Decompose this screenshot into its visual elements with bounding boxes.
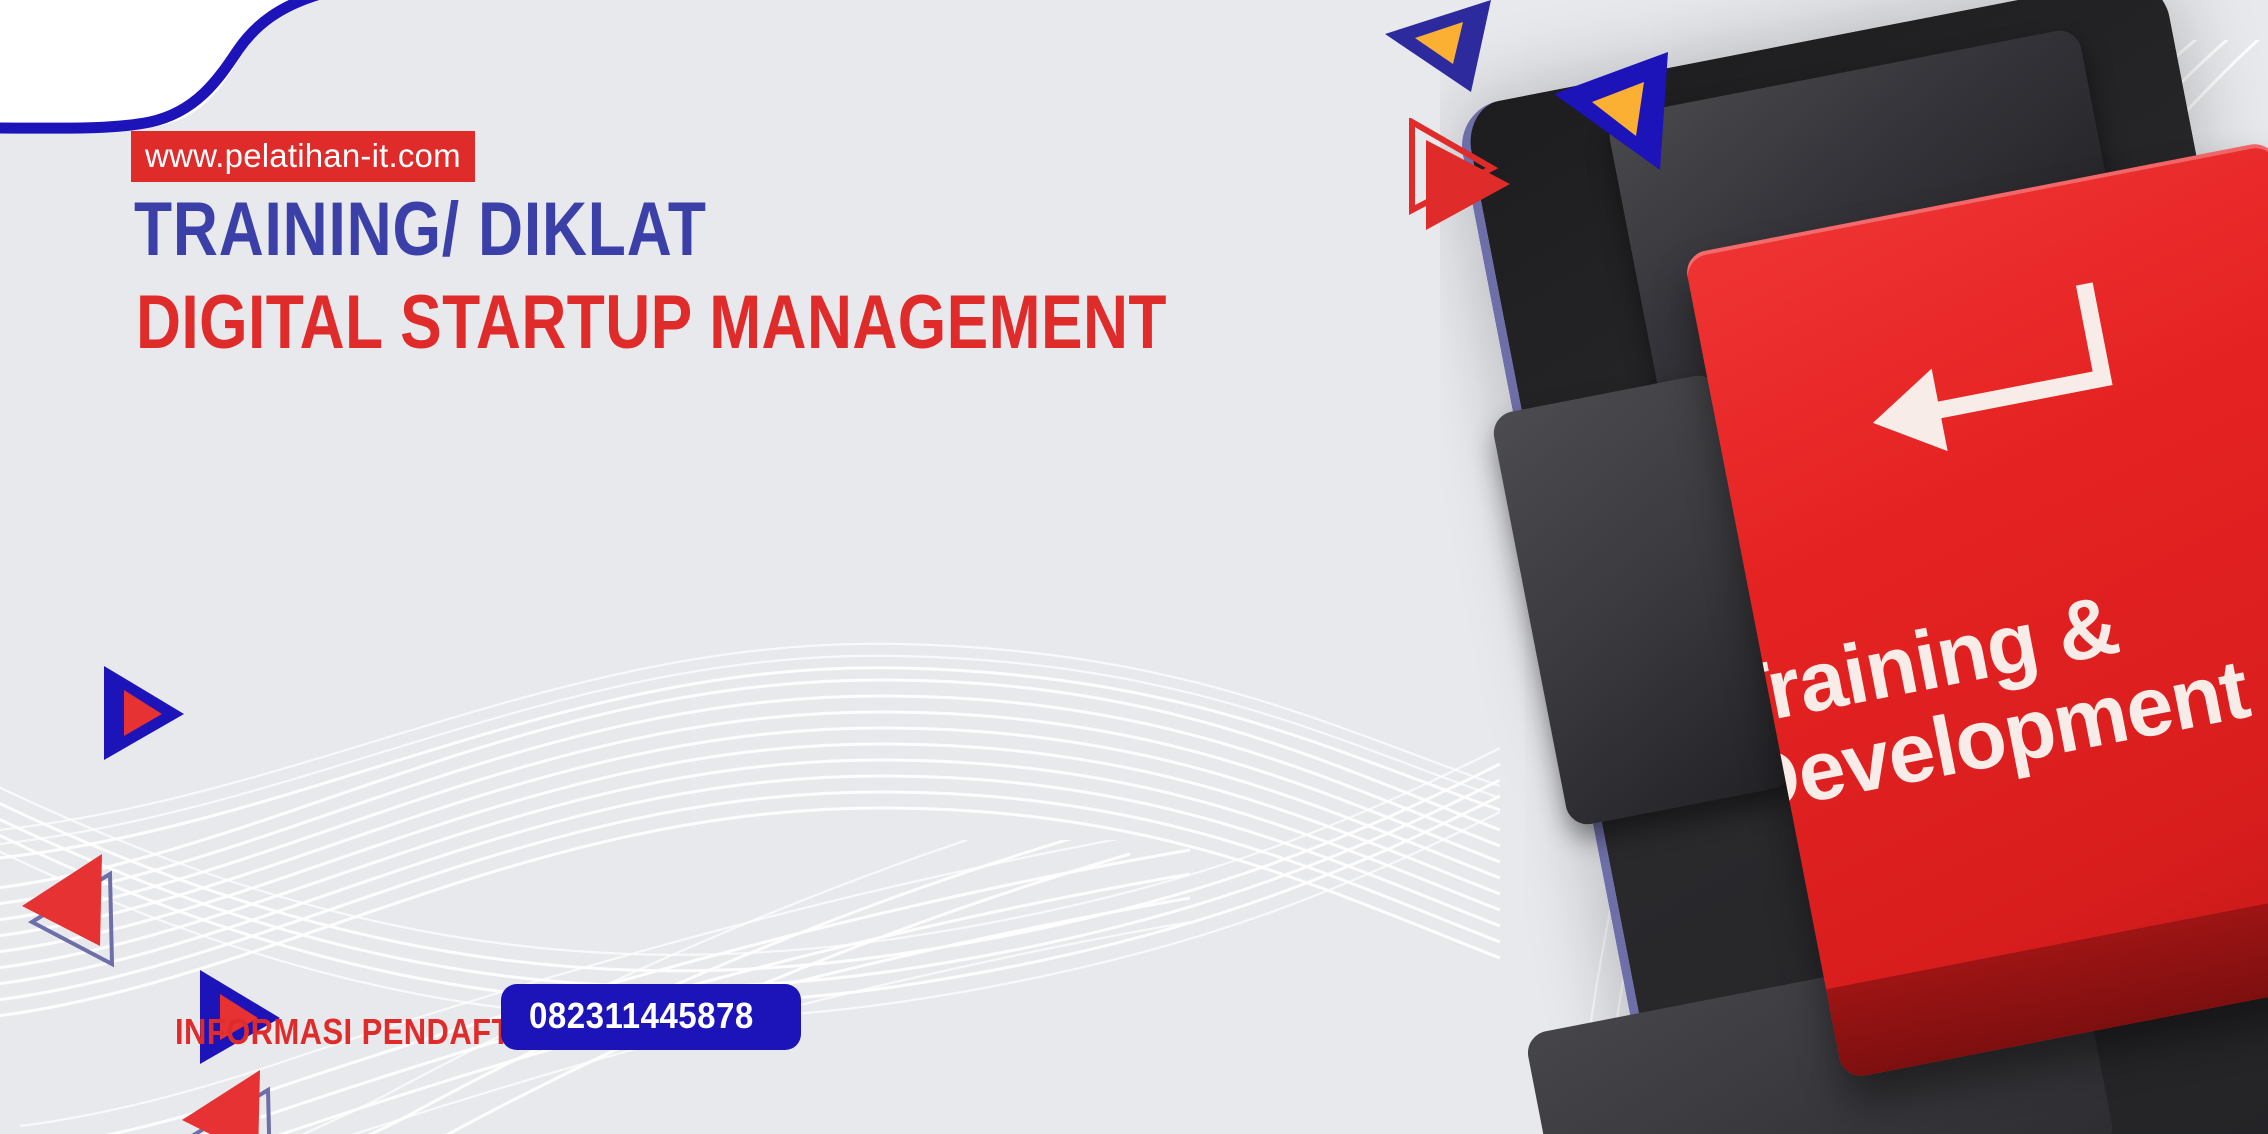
headline-primary: TRAINING/ DIKLAT <box>134 192 707 268</box>
headline-secondary: DIGITAL STARTUP MANAGEMENT <box>136 285 1167 361</box>
keyboard-key-caption: Training & Development <box>1715 511 2268 829</box>
content-column: www.pelatihan-it.com TRAINING/ DIKLAT DI… <box>0 0 1100 1134</box>
phone-number-badge[interactable]: 082311445878 <box>501 984 801 1050</box>
triangle-blue-orange-top-2 <box>1548 44 1678 174</box>
enter-arrow-icon <box>1851 282 2123 467</box>
promo-banner: Training & Development www.pelatihan-it.… <box>0 0 2268 1134</box>
triangle-blue-orange-top-1 <box>1379 0 1499 114</box>
phone-number-text: 082311445878 <box>529 998 754 1034</box>
website-url-text: www.pelatihan-it.com <box>145 137 461 174</box>
triangle-red-outline-top <box>1400 118 1530 248</box>
website-url-badge[interactable]: www.pelatihan-it.com <box>131 131 475 182</box>
